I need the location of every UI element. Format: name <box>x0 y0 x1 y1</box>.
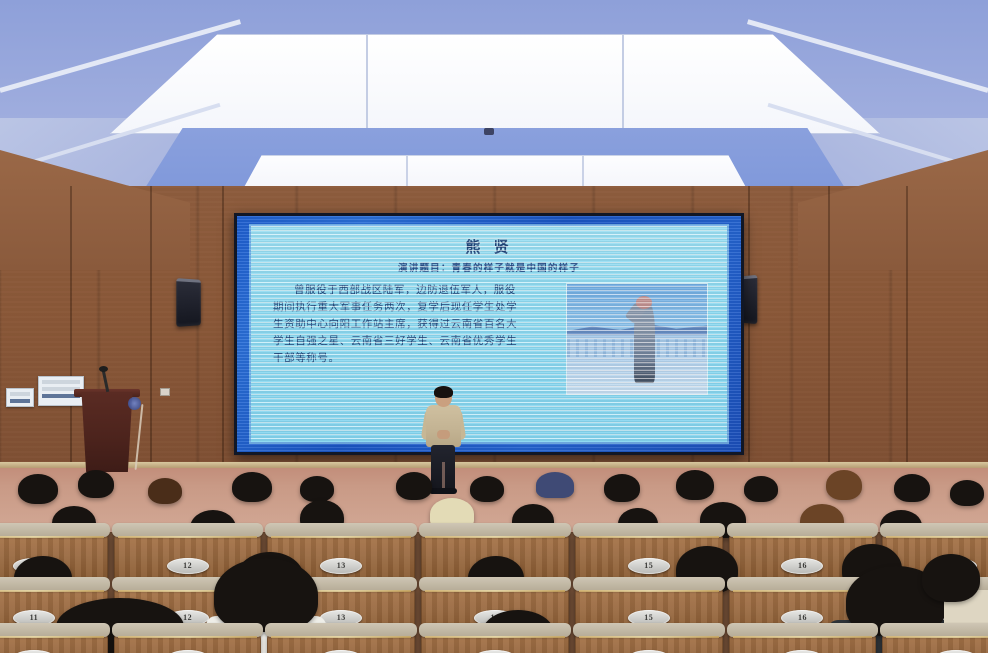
microphone-head-icon <box>99 366 108 372</box>
wall-seam <box>828 186 830 471</box>
audience-head <box>950 480 984 506</box>
seat-trim <box>886 636 988 638</box>
seat-trim <box>579 636 719 638</box>
audience-head <box>148 478 182 504</box>
seat-cushion <box>419 623 571 637</box>
ceiling <box>0 0 988 215</box>
audience-head <box>300 476 334 502</box>
seat-trim <box>579 590 719 592</box>
audience-head <box>470 476 504 502</box>
seat-trim <box>0 590 104 592</box>
audience-head-foreground <box>214 558 318 632</box>
seat-trim <box>733 536 873 538</box>
left-wall-speaker <box>176 278 200 327</box>
presenter-hair <box>434 386 453 398</box>
audience-head-foreground <box>922 554 980 602</box>
auditorium-seat[interactable]: 15 <box>575 632 723 653</box>
seat-trim <box>0 636 104 638</box>
seat-trim <box>0 536 104 538</box>
wall-seam <box>70 186 72 471</box>
seat-number-plate: 13 <box>320 558 362 574</box>
auditorium-seat[interactable]: 13 <box>267 632 415 653</box>
slide-photo-soldier-saluting <box>567 284 707 394</box>
seat-trim <box>271 536 411 538</box>
seat-cushion <box>727 623 879 637</box>
seat-cushion <box>880 523 988 537</box>
ceiling-light-row-upper <box>110 34 880 134</box>
auditorium-seat[interactable]: 11 <box>0 632 108 653</box>
seat-trim <box>886 536 988 538</box>
seat-cushion <box>573 523 725 537</box>
seat-trim <box>425 536 565 538</box>
slide-subtitle: 演讲题目：青春的样子就是中国的样子 <box>251 260 727 274</box>
presentation-screen: 熊 贤 演讲题目：青春的样子就是中国的样子 曾服役于西部战区陆军，边防退伍军人，… <box>234 213 744 455</box>
wall-seam <box>906 186 908 471</box>
presenter-hands <box>437 430 450 439</box>
seat-number-plate: 16 <box>781 558 823 574</box>
seat-trim <box>579 536 719 538</box>
seat-trim <box>425 590 565 592</box>
audience-head <box>78 470 114 498</box>
wall-seam <box>150 186 152 471</box>
ceiling-light-panel-2 <box>367 34 624 134</box>
seat-number-plate: 12 <box>167 558 209 574</box>
seat-trim <box>118 636 258 638</box>
auditorium-seat[interactable]: 17 <box>882 632 988 653</box>
auditorium-seat[interactable]: 12 <box>114 632 262 653</box>
seat-cushion <box>0 623 110 637</box>
seat-cushion <box>573 577 725 591</box>
seat-cushion <box>112 623 264 637</box>
seat-trim <box>425 636 565 638</box>
seat-cushion <box>419 577 571 591</box>
seat-trim <box>271 636 411 638</box>
seat-number-plate: 15 <box>628 558 670 574</box>
seat-cushion <box>265 523 417 537</box>
seat-cushion <box>112 523 264 537</box>
seat-cushion <box>265 623 417 637</box>
slide-body-text: 曾服役于西部战区陆军，边防退伍军人，服役期间执行重大军事任务两次，复学后现任学生… <box>273 282 521 367</box>
notice-board-1 <box>6 388 34 407</box>
seat-cushion <box>419 523 571 537</box>
audience-head <box>604 474 640 502</box>
auditorium-seat[interactable]: 14 <box>421 632 569 653</box>
audience-area: 11 12 13 14 15 <box>0 470 988 653</box>
audience-head <box>232 472 272 502</box>
slide-title: 熊 贤 <box>251 236 727 257</box>
audience-head <box>826 470 862 500</box>
lecture-hall-photo: 熊 贤 演讲题目：青春的样子就是中国的样子 曾服役于西部战区陆军，边防退伍军人，… <box>0 0 988 653</box>
wall-outlet-4 <box>160 388 170 396</box>
audience-head <box>396 472 432 500</box>
slide-content: 熊 贤 演讲题目：青春的样子就是中国的样子 曾服役于西部战区陆军，边防退伍军人，… <box>251 226 727 442</box>
seat-cushion <box>0 577 110 591</box>
wall-seam <box>748 186 750 471</box>
seat-trim <box>733 636 873 638</box>
seat-trim <box>118 536 258 538</box>
seat-cushion <box>0 523 110 537</box>
seat-row-front: 11 12 13 14 15 <box>0 632 988 653</box>
audience-head <box>744 476 778 502</box>
stage-edge-trim <box>0 462 988 468</box>
podium-indicator-light <box>128 397 141 410</box>
auditorium-seat[interactable]: 16 <box>729 632 877 653</box>
seat-cushion <box>727 523 879 537</box>
audience-head <box>676 470 714 500</box>
wall-seam <box>222 186 224 471</box>
audience-head <box>894 474 930 502</box>
ceiling-sensor-icon <box>484 128 494 135</box>
audience-head <box>18 474 58 504</box>
seat-cushion <box>573 623 725 637</box>
audience-head-with-cap <box>536 472 574 498</box>
presenter-torso <box>426 405 461 447</box>
seat-cushion <box>880 623 988 637</box>
screen-display: 熊 贤 演讲题目：青春的样子就是中国的样子 曾服役于西部战区陆军，边防退伍军人，… <box>237 216 741 452</box>
